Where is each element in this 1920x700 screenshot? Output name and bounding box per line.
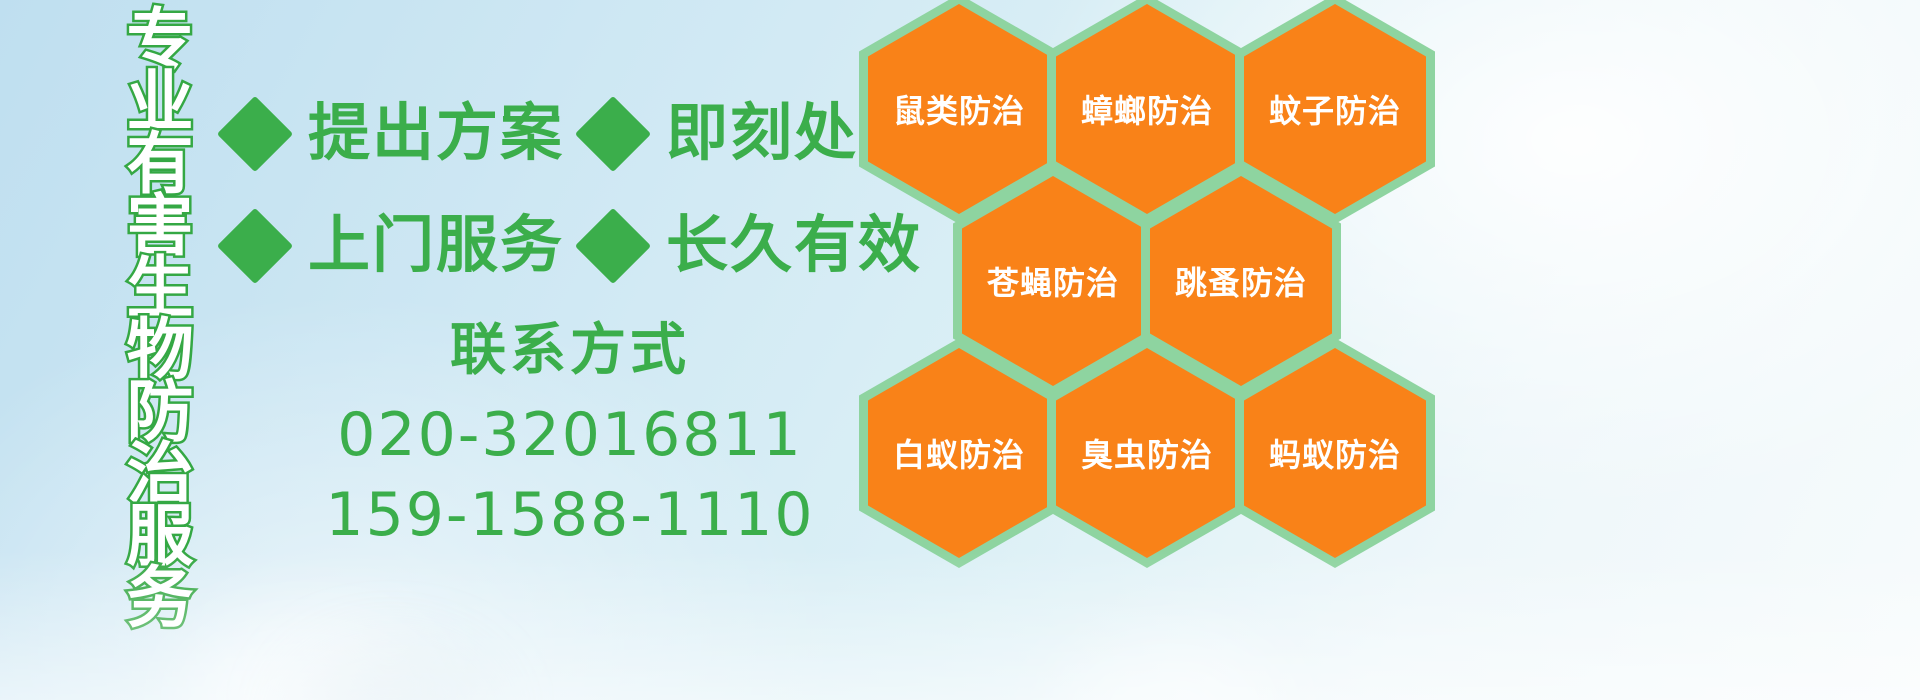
feature-row-2: 上门服务 长久有效	[228, 190, 868, 302]
hexagon-fill: 白蚁防治	[868, 348, 1050, 558]
hexagon-fill: 臭虫防治	[1056, 348, 1238, 558]
hex-cell-termite[interactable]: 白蚁防治	[859, 338, 1059, 568]
decorative-blob-left	[180, 620, 440, 700]
hex-label: 鼠类防治	[893, 86, 1025, 132]
hex-label: 蟑螂防治	[1081, 86, 1213, 132]
hex-label: 臭虫防治	[1081, 430, 1213, 476]
diamond-icon	[575, 96, 651, 172]
decorative-blob-center	[1060, 640, 1280, 700]
hex-cell-ant[interactable]: 蚂蚁防治	[1235, 338, 1435, 568]
phone-number-mobile[interactable]: 159-1588-1110	[300, 476, 840, 555]
decorative-blob-left-2	[300, 660, 480, 700]
diamond-icon	[217, 208, 293, 284]
hexagon-shape: 白蚁防治	[859, 338, 1059, 568]
feature-label-1: 提出方案	[308, 103, 564, 165]
hex-cell-bedbug[interactable]: 臭虫防治	[1047, 338, 1247, 568]
vertical-title: 专 业 有 害 生 物 防 治 服 务	[110, 10, 210, 570]
contact-block: 联系方式 020-32016811 159-1588-1110	[300, 318, 840, 555]
hex-label: 跳蚤防治	[1175, 258, 1307, 304]
hex-label: 苍蝇防治	[987, 258, 1119, 304]
hex-label: 白蚁防治	[893, 430, 1025, 476]
feature-row-1: 提出方案 即刻处理	[228, 78, 868, 190]
feature-list: 提出方案 即刻处理 上门服务 长久有效	[228, 78, 868, 302]
honeycomb-grid: 鼠类防治 蟑螂防治 蚊子防治 苍蝇防治	[845, 0, 1465, 548]
diamond-icon	[217, 96, 293, 172]
hex-label: 蚊子防治	[1269, 86, 1401, 132]
hexagon-shape: 臭虫防治	[1047, 338, 1247, 568]
phone-number-landline[interactable]: 020-32016811	[300, 396, 840, 475]
bottom-haze	[0, 550, 1920, 700]
hex-label: 蚂蚁防治	[1269, 430, 1401, 476]
hexagon-shape: 蚂蚁防治	[1235, 338, 1435, 568]
diamond-icon	[575, 208, 651, 284]
feature-label-3: 上门服务	[308, 215, 564, 277]
hexagon-fill: 蚂蚁防治	[1244, 348, 1426, 558]
pest-control-banner: 专 业 有 害 生 物 防 治 服 务 提出方案 即刻处理 上门服务 长久有效 …	[0, 0, 1920, 700]
contact-title: 联系方式	[300, 318, 840, 382]
